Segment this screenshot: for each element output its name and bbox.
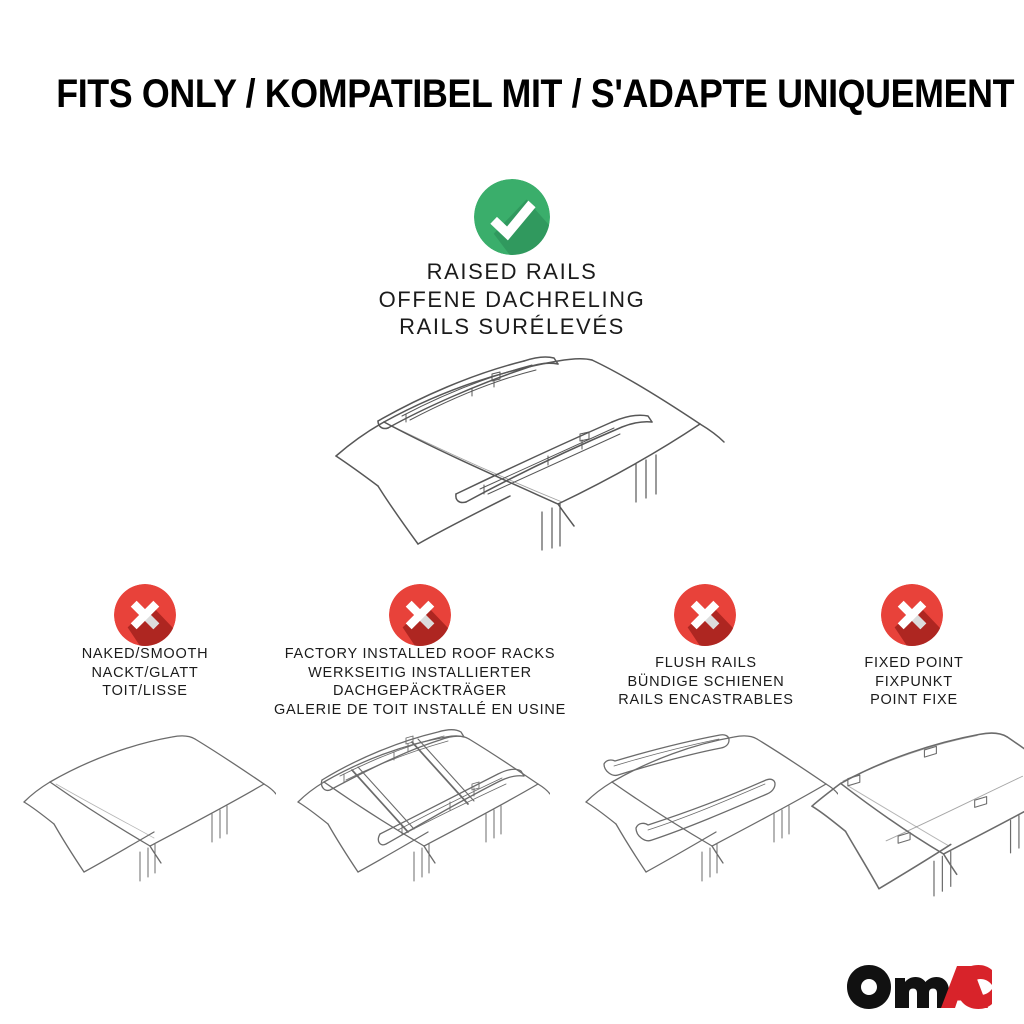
page-title: FITS ONLY / KOMPATIBEL MIT / S'ADAPTE UN… [0, 72, 1024, 116]
incompatible-label-fr: RAILS ENCASTRABLES [600, 691, 812, 710]
compatible-label-group: RAISED RAILS OFFENE DACHRELING RAILS SUR… [312, 258, 712, 341]
x-circle-icon [674, 584, 736, 646]
incompatible-label-en: NAKED/SMOOTH [40, 645, 250, 664]
check-circle-icon [474, 179, 550, 255]
compatibility-infographic: FITS ONLY / KOMPATIBEL MIT / S'ADAPTE UN… [0, 0, 1024, 1024]
incompatible-label-de: BÜNDIGE SCHIENEN [600, 673, 812, 692]
incompatible-label-de-2: DACHGEPÄCKTRÄGER [265, 682, 575, 701]
car-roof-naked-smooth-illustration [8, 726, 276, 896]
car-roof-raised-rails-illustration [296, 352, 726, 557]
incompatible-label-de: FIXPUNKT [838, 673, 990, 692]
incompatible-label-group-flush-rails: FLUSH RAILS BÜNDIGE SCHIENEN RAILS ENCAS… [600, 654, 812, 710]
incompatible-label-en: FIXED POINT [838, 654, 990, 673]
incompatible-label-fr: POINT FIXE [838, 691, 990, 710]
incompatible-label-en: FACTORY INSTALLED ROOF RACKS [265, 645, 575, 664]
incompatible-label-de-1: WERKSEITIG INSTALLIERTER [265, 664, 575, 683]
compatible-label-fr: RAILS SURÉLEVÉS [312, 313, 712, 341]
incompatible-label-group-naked-smooth: NAKED/SMOOTH NACKT/GLATT TOIT/LISSE [40, 645, 250, 701]
page-title-text: FITS ONLY / KOMPATIBEL MIT / S'ADAPTE UN… [56, 72, 1014, 116]
car-roof-fixed-point-illustration [800, 726, 1024, 896]
x-circle-icon [114, 584, 176, 646]
incompatible-label-group-fixed-point: FIXED POINT FIXPUNKT POINT FIXE [838, 654, 990, 710]
incompatible-label-group-factory-racks: FACTORY INSTALLED ROOF RACKS WERKSEITIG … [265, 645, 575, 719]
x-circle-icon [881, 584, 943, 646]
omac-logo [846, 963, 994, 1009]
car-roof-factory-roof-racks-illustration [282, 726, 550, 896]
incompatible-label-en: FLUSH RAILS [600, 654, 812, 673]
compatible-label-en: RAISED RAILS [312, 258, 712, 286]
x-circle-icon [389, 584, 451, 646]
incompatible-label-de: NACKT/GLATT [40, 664, 250, 683]
compatible-label-de: OFFENE DACHRELING [312, 286, 712, 314]
incompatible-label-fr: GALERIE DE TOIT INSTALLÉ EN USINE [265, 701, 575, 720]
car-roof-flush-rails-illustration [570, 726, 838, 896]
incompatible-label-fr: TOIT/LISSE [40, 682, 250, 701]
